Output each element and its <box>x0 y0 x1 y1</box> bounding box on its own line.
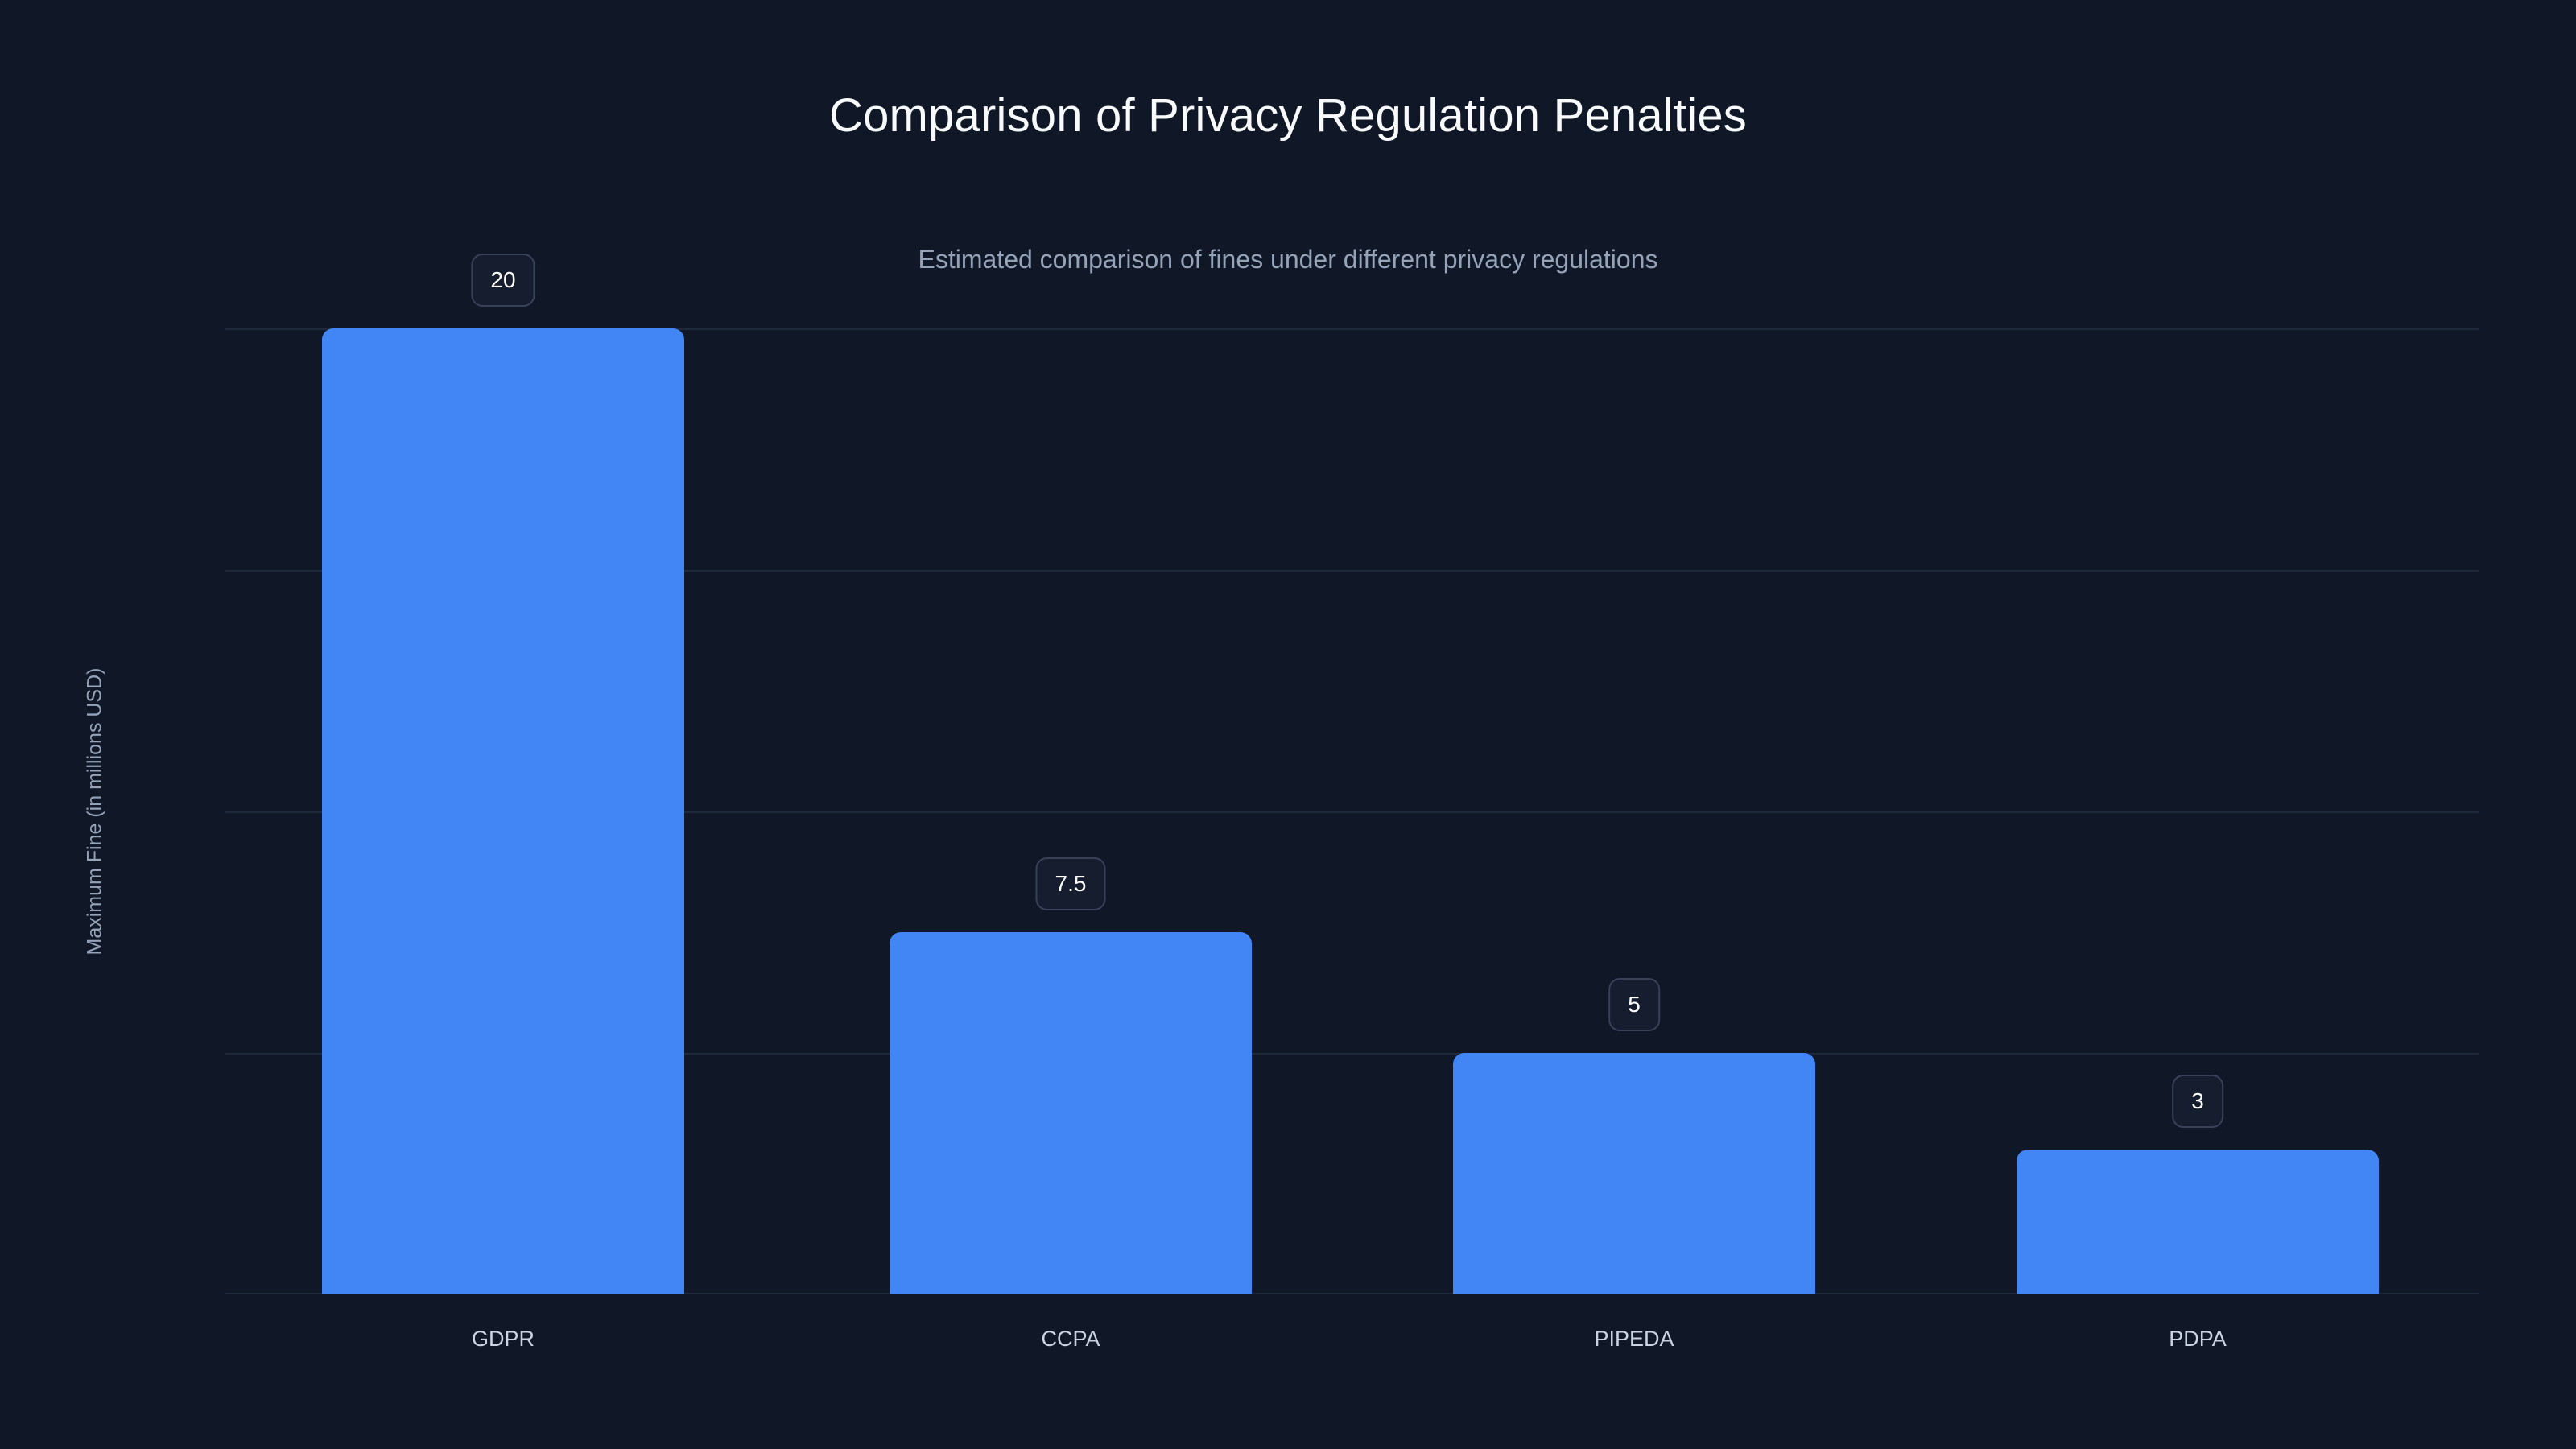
x-tick-label-pipeda: PIPEDA <box>1594 1327 1674 1352</box>
x-tick-label-gdpr: GDPR <box>472 1327 535 1352</box>
bar-ccpa[interactable] <box>890 932 1252 1294</box>
bar-pdpa[interactable] <box>2017 1150 2379 1294</box>
x-tick-label-ccpa: CCPA <box>1041 1327 1100 1352</box>
value-badge-ccpa: 7.5 <box>1036 857 1106 910</box>
value-badge-pipeda: 5 <box>1608 978 1660 1031</box>
plot-area <box>225 328 2479 1294</box>
x-tick-label-pdpa: PDPA <box>2169 1327 2227 1352</box>
bar-pipeda[interactable] <box>1453 1053 1815 1294</box>
bar-gdpr[interactable] <box>322 328 684 1294</box>
value-badge-gdpr: 20 <box>471 254 535 307</box>
chart-subtitle: Estimated comparison of fines under diff… <box>0 246 2576 274</box>
bar-chart-canvas: Comparison of Privacy Regulation Penalti… <box>0 0 2576 1449</box>
chart-title: Comparison of Privacy Regulation Penalti… <box>0 90 2576 142</box>
y-axis-title: Maximum Fine (in millions USD) <box>84 668 107 956</box>
value-badge-pdpa: 3 <box>2172 1075 2223 1128</box>
